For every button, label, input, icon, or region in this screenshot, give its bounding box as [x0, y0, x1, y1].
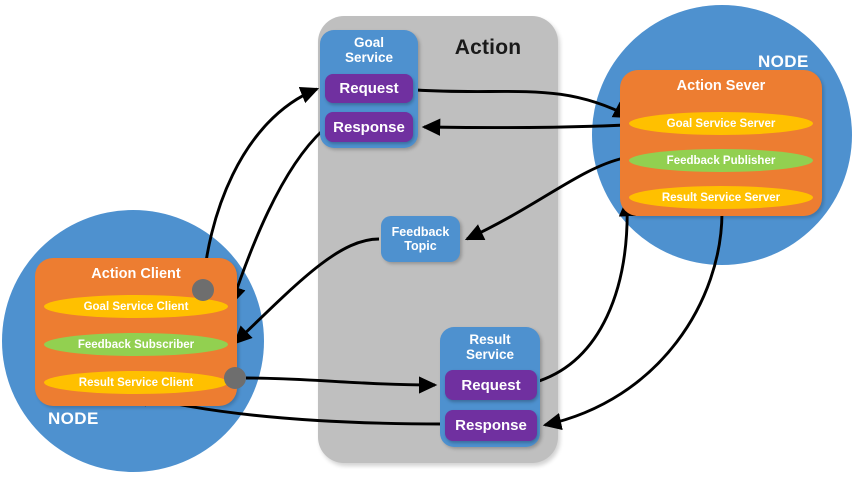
goal-response-block[interactable]: Response: [325, 112, 413, 142]
feedback-publisher-pill[interactable]: Feedback Publisher: [629, 149, 813, 172]
goal-request-block[interactable]: Request: [325, 74, 413, 103]
goal-service-server-pill[interactable]: Goal Service Server: [629, 112, 813, 135]
result-connector-dot-icon: [224, 367, 246, 389]
result-request-block[interactable]: Request: [445, 370, 537, 400]
result-service-client-pill[interactable]: Result Service Client: [44, 371, 228, 394]
action-server-title: Action Sever: [620, 78, 822, 94]
goal-service-title: Goal Service: [320, 35, 418, 65]
action-group-label: Action: [428, 36, 548, 60]
feedback-topic-title-line2: Topic: [392, 239, 450, 253]
goal-service-title-line1: Goal: [320, 35, 418, 50]
result-service-server-pill[interactable]: Result Service Server: [629, 186, 813, 209]
node-label-client: NODE: [48, 409, 99, 429]
diagram-canvas: Action: [0, 0, 854, 480]
result-service-title: Result Service: [440, 332, 540, 362]
goal-connector-dot-icon: [192, 279, 214, 301]
feedback-subscriber-pill[interactable]: Feedback Subscriber: [44, 333, 228, 356]
node-label-server: NODE: [758, 52, 809, 72]
feedback-topic-box[interactable]: Feedback Topic: [381, 216, 460, 262]
result-response-block[interactable]: Response: [445, 410, 537, 441]
result-service-title-line2: Service: [440, 347, 540, 362]
feedback-topic-title-line1: Feedback: [392, 225, 450, 239]
goal-service-title-line2: Service: [320, 50, 418, 65]
result-service-title-line1: Result: [440, 332, 540, 347]
